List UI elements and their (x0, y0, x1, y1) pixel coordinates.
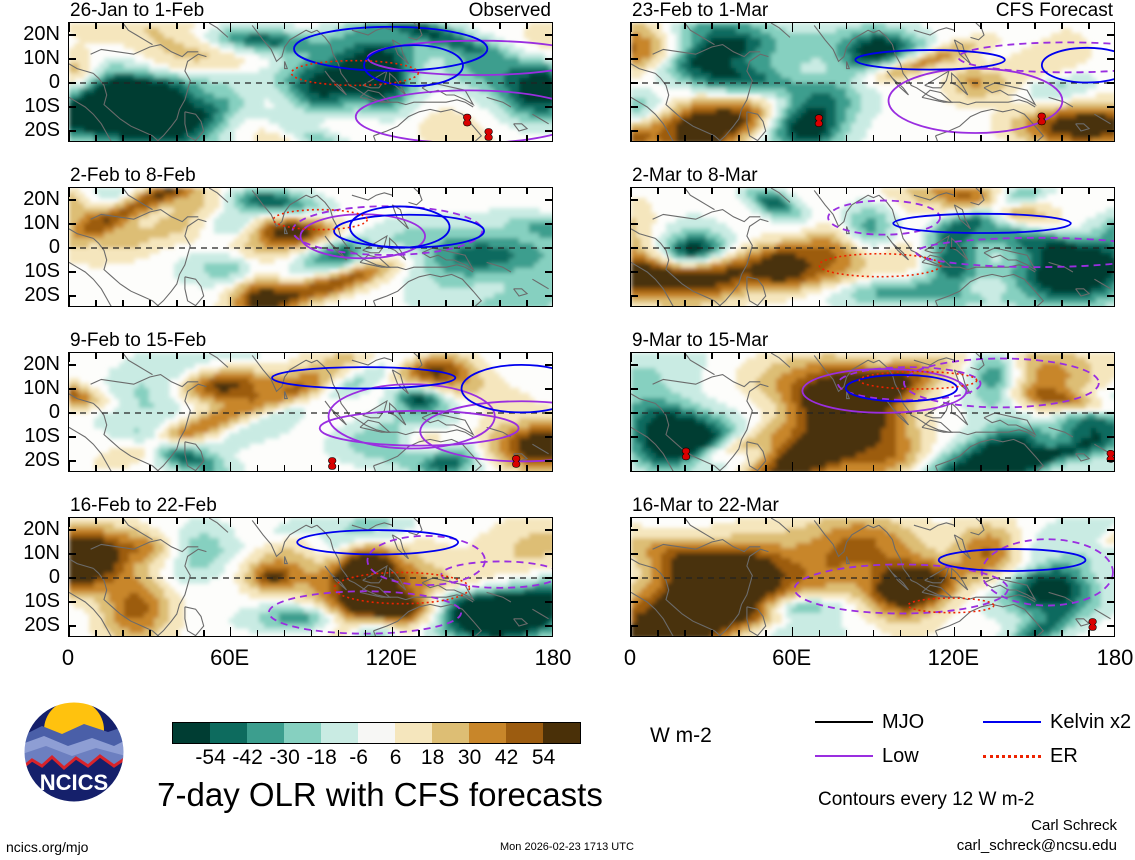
colorbar-tick-label: -6 (349, 747, 368, 768)
x-axis-tick (122, 630, 124, 636)
x-axis-tick (765, 300, 767, 306)
y-axis-tick (545, 295, 552, 297)
contour-interval-note: Contours every 12 W m-2 (818, 790, 1034, 809)
x-axis-tick (846, 135, 848, 141)
x-axis-tick (230, 132, 232, 141)
x-axis-labels: 060E120E180 (630, 637, 1115, 671)
x-axis-tick (311, 300, 313, 306)
x-axis-tick (792, 518, 794, 527)
y-axis-label: 10N (23, 543, 60, 563)
y-axis-tick (545, 553, 552, 555)
y-axis-tick (631, 34, 638, 36)
y-axis-labels: 20N10N010S20S (2, 187, 68, 307)
y-axis-tick (545, 364, 552, 366)
x-axis-tick (1034, 518, 1036, 524)
x-axis-tick (900, 135, 902, 141)
x-axis-tick (472, 23, 474, 29)
y-axis-tick (1107, 601, 1114, 603)
x-axis-tick (954, 297, 956, 306)
y-axis-tick (69, 529, 76, 531)
y-axis-tick (69, 412, 76, 414)
map-plot-area (68, 22, 553, 142)
x-axis-tick (499, 300, 501, 306)
x-axis-tick (819, 188, 821, 194)
x-axis-tick (954, 462, 956, 471)
y-axis-tick (545, 199, 552, 201)
y-axis-tick (1107, 130, 1114, 132)
colorbar-tick-label: -54 (195, 747, 225, 768)
y-axis-label: 10N (23, 378, 60, 398)
panel-title: 16-Mar to 22-Mar (632, 496, 779, 515)
x-axis-tick (95, 135, 97, 141)
x-axis-tick (445, 630, 447, 636)
x-axis-label: 180 (535, 647, 572, 669)
x-axis-tick (284, 23, 286, 29)
legend-entry-kelvin-x2: Kelvin x2 (983, 712, 1131, 732)
x-axis-tick (526, 188, 528, 194)
x-axis-tick (927, 353, 929, 359)
y-axis-label: 0 (49, 72, 60, 92)
y-axis-tick (1107, 625, 1114, 627)
x-axis-tick (418, 23, 420, 29)
x-axis-tick (257, 135, 259, 141)
x-axis-tick (392, 188, 394, 197)
x-axis-tick (499, 465, 501, 471)
y-axis-label: 10S (24, 591, 60, 611)
y-axis-tick (545, 412, 552, 414)
x-axis-tick (792, 188, 794, 197)
x-axis-tick (68, 132, 70, 141)
x-axis-tick (499, 630, 501, 636)
panel-corner-label: CFS Forecast (996, 1, 1113, 20)
y-axis-tick (1107, 199, 1114, 201)
x-axis-tick (122, 188, 124, 194)
x-axis-tick (980, 300, 982, 306)
x-axis-tick (657, 630, 659, 636)
x-axis-tick (311, 23, 313, 29)
y-axis-tick (545, 460, 552, 462)
x-axis-tick (846, 188, 848, 194)
x-axis-tick (711, 135, 713, 141)
x-axis-tick (846, 630, 848, 636)
x-axis-tick (819, 630, 821, 636)
x-axis-tick (284, 135, 286, 141)
y-axis-tick (1107, 388, 1114, 390)
x-axis-tick (472, 188, 474, 194)
x-axis-tick (1007, 188, 1009, 194)
x-axis-label: 120E (366, 647, 417, 669)
x-axis-tick (122, 465, 124, 471)
olr-shading (69, 188, 553, 307)
olr-shading (631, 188, 1115, 307)
x-axis-tick (365, 630, 367, 636)
legend-label: MJO (882, 712, 924, 732)
x-axis-tick (1088, 188, 1090, 194)
colorbar-band-8 (469, 723, 506, 743)
x-axis-tick (819, 300, 821, 306)
x-axis-tick (418, 188, 420, 194)
x-axis-tick (365, 135, 367, 141)
colorbar-band-4 (321, 723, 358, 743)
x-axis-tick (392, 23, 394, 32)
x-axis-tick (765, 23, 767, 29)
y-axis-tick (631, 247, 638, 249)
x-axis-tick (203, 300, 205, 306)
timestamp: Mon 2026-02-23 1713 UTC (500, 842, 634, 853)
x-axis-tick (392, 627, 394, 636)
x-axis-tick (846, 23, 848, 29)
y-axis-tick (69, 34, 76, 36)
y-axis-label: 0 (49, 237, 60, 257)
y-axis-tick (545, 130, 552, 132)
y-axis-tick (545, 223, 552, 225)
x-axis-tick (900, 630, 902, 636)
x-axis-tick (526, 630, 528, 636)
x-axis-tick (657, 465, 659, 471)
x-axis-tick (765, 518, 767, 524)
y-axis-tick (69, 460, 76, 462)
x-axis-tick (68, 627, 70, 636)
x-axis-label: 60E (210, 647, 249, 669)
x-axis-tick (684, 188, 686, 194)
x-axis-tick (1061, 630, 1063, 636)
map-plot-area (630, 22, 1115, 142)
y-axis-tick (545, 601, 552, 603)
x-axis-tick (900, 300, 902, 306)
y-axis-tick (545, 247, 552, 249)
olr-shading (631, 518, 1115, 637)
legend-swatch (983, 755, 1041, 758)
x-axis-tick (284, 188, 286, 194)
x-axis-tick (311, 630, 313, 636)
x-axis-tick (792, 627, 794, 636)
x-axis-tick (257, 23, 259, 29)
x-axis-tick (203, 23, 205, 29)
x-axis-tick (819, 518, 821, 524)
x-axis-tick (257, 465, 259, 471)
x-axis-tick (1088, 353, 1090, 359)
y-axis-tick (1107, 295, 1114, 297)
colorbar: -54-42-30-18-6618304254 W m-2 (172, 722, 581, 770)
x-axis-tick (684, 518, 686, 524)
x-axis-tick (980, 518, 982, 524)
x-axis-tick (176, 300, 178, 306)
map-plot-area (68, 352, 553, 472)
x-axis-tick (230, 518, 232, 527)
x-axis-tick (68, 188, 70, 197)
x-axis-tick (980, 465, 982, 471)
x-axis-tick (684, 630, 686, 636)
y-axis-label: 10S (24, 96, 60, 116)
x-axis-tick (738, 353, 740, 359)
x-axis-tick (1007, 300, 1009, 306)
map-plot-area (630, 187, 1115, 307)
colorbar-tick-label: -18 (306, 747, 336, 768)
y-axis-tick (545, 529, 552, 531)
y-axis-tick (545, 625, 552, 627)
x-axis-tick (338, 135, 340, 141)
colorbar-band-0 (173, 723, 210, 743)
colorbar-tick-label: -30 (269, 747, 299, 768)
x-axis-tick (365, 23, 367, 29)
y-axis-tick (69, 82, 76, 84)
x-axis-tick (472, 135, 474, 141)
y-axis-label: 10N (23, 213, 60, 233)
x-axis-tick (738, 518, 740, 524)
x-axis-tick (1061, 518, 1063, 524)
x-axis-tick (230, 462, 232, 471)
y-axis-tick (631, 364, 638, 366)
x-axis-tick (392, 353, 394, 362)
x-axis-tick (257, 353, 259, 359)
x-axis-tick (765, 135, 767, 141)
y-axis-tick (545, 271, 552, 273)
x-axis-tick (499, 135, 501, 141)
x-axis-tick (445, 23, 447, 29)
x-axis-tick (954, 23, 956, 32)
legend-swatch (983, 721, 1041, 723)
y-axis-tick (545, 82, 552, 84)
y-axis-label: 10S (24, 261, 60, 281)
y-axis-tick (631, 130, 638, 132)
x-axis-tick (980, 353, 982, 359)
x-axis-tick (526, 465, 528, 471)
x-axis-tick (284, 518, 286, 524)
y-axis-tick (69, 106, 76, 108)
x-axis-tick (311, 188, 313, 194)
x-axis-tick (392, 462, 394, 471)
x-axis-tick (365, 465, 367, 471)
x-axis-tick (819, 353, 821, 359)
x-axis-tick (927, 23, 929, 29)
x-axis-tick (122, 353, 124, 359)
x-axis-tick (472, 300, 474, 306)
y-axis-tick (631, 436, 638, 438)
y-axis-label: 10N (23, 48, 60, 68)
x-axis-tick (954, 518, 956, 527)
x-axis-tick (1088, 465, 1090, 471)
x-axis-tick (203, 353, 205, 359)
y-axis-tick (1107, 82, 1114, 84)
colorbar-tick-label: -42 (232, 747, 262, 768)
y-axis-tick (631, 460, 638, 462)
x-axis-tick (873, 465, 875, 471)
x-axis-tick (499, 23, 501, 29)
y-axis-label: 20S (24, 615, 60, 635)
x-axis-tick (445, 135, 447, 141)
y-axis-tick (1107, 364, 1114, 366)
x-axis-tick (392, 297, 394, 306)
x-axis-tick (365, 353, 367, 359)
site-url: ncics.org/mjo (6, 840, 88, 854)
x-axis-tick (68, 518, 70, 527)
x-axis-tick (900, 23, 902, 29)
x-axis-tick (149, 353, 151, 359)
x-axis-tick (1034, 135, 1036, 141)
x-axis-tick (1088, 518, 1090, 524)
credit-author: Carl Schreck (1031, 818, 1117, 833)
y-axis-tick (69, 364, 76, 366)
x-axis-tick (792, 297, 794, 306)
x-axis-tick (684, 135, 686, 141)
x-axis-tick (792, 132, 794, 141)
panel-title: 9-Mar to 15-Mar (632, 331, 768, 350)
x-axis-tick (765, 188, 767, 194)
x-axis-tick (418, 135, 420, 141)
x-axis-tick (738, 23, 740, 29)
x-axis-tick (900, 353, 902, 359)
x-axis-tick (365, 518, 367, 524)
panel-title: 26-Jan to 1-Feb (70, 1, 204, 20)
x-axis-tick (900, 188, 902, 194)
x-axis-tick (338, 188, 340, 194)
colorbar-band-5 (358, 723, 395, 743)
map-panel-obs-1: 26-Jan to 1-FebObserved20N10N010S20S (68, 22, 553, 142)
x-axis-tick (176, 23, 178, 29)
colorbar-band-7 (432, 723, 469, 743)
y-axis-tick (69, 130, 76, 132)
x-axis-tick (1088, 135, 1090, 141)
y-axis-label: 20S (24, 120, 60, 140)
y-axis-tick (1107, 34, 1114, 36)
y-axis-tick (545, 436, 552, 438)
y-axis-tick (69, 577, 76, 579)
y-axis-labels: 20N10N010S20S (2, 517, 68, 637)
x-axis-tick (765, 353, 767, 359)
x-axis-tick (765, 465, 767, 471)
y-axis-tick (631, 271, 638, 273)
x-axis-tick (873, 188, 875, 194)
x-axis-tick (338, 23, 340, 29)
x-axis-tick (980, 630, 982, 636)
legend-swatch (815, 755, 873, 757)
x-axis-tick (1061, 188, 1063, 194)
y-axis-tick (631, 577, 638, 579)
colorbar-tick-label: 54 (532, 747, 555, 768)
olr-figure: 26-Jan to 1-FebObserved20N10N010S20S23-F… (0, 0, 1135, 860)
x-axis-tick (1061, 23, 1063, 29)
x-axis-tick (176, 518, 178, 524)
y-axis-tick (69, 58, 76, 60)
x-axis-label: 0 (62, 647, 74, 669)
x-axis-tick (176, 135, 178, 141)
x-axis-tick (68, 353, 70, 362)
x-axis-labels: 060E120E180 (68, 637, 553, 671)
y-axis-tick (1107, 460, 1114, 462)
x-axis-tick (95, 353, 97, 359)
x-axis-tick (927, 300, 929, 306)
x-axis-tick (230, 188, 232, 197)
x-axis-tick (149, 23, 151, 29)
legend-label: Kelvin x2 (1050, 712, 1131, 732)
x-axis-tick (927, 135, 929, 141)
x-axis-tick (284, 465, 286, 471)
x-axis-tick (630, 297, 632, 306)
y-axis-tick (69, 601, 76, 603)
colorbar-tick-label: 6 (390, 747, 402, 768)
x-axis-tick (526, 135, 528, 141)
x-axis-tick (1007, 518, 1009, 524)
x-axis-tick (68, 462, 70, 471)
x-axis-tick (472, 518, 474, 524)
y-axis-tick (545, 34, 552, 36)
legend-entry-mjo: MJO (815, 712, 924, 732)
x-axis-tick (257, 630, 259, 636)
x-axis-tick (445, 300, 447, 306)
legend-entry-er: ER (983, 746, 1078, 766)
x-axis-tick (95, 23, 97, 29)
x-axis-tick (711, 23, 713, 29)
x-axis-tick (630, 188, 632, 197)
olr-shading (69, 518, 553, 637)
panel-title: 16-Feb to 22-Feb (70, 496, 217, 515)
panel-title: 2-Mar to 8-Mar (632, 166, 758, 185)
y-axis-tick (1107, 271, 1114, 273)
x-axis-tick (149, 518, 151, 524)
y-axis-label: 0 (49, 402, 60, 422)
x-axis-tick (122, 518, 124, 524)
x-axis-tick (392, 132, 394, 141)
x-axis-tick (630, 627, 632, 636)
x-axis-tick (873, 518, 875, 524)
x-axis-tick (711, 630, 713, 636)
x-axis-tick (176, 630, 178, 636)
panel-title: 23-Feb to 1-Mar (632, 1, 768, 20)
x-axis-tick (1034, 23, 1036, 29)
x-axis-tick (1034, 465, 1036, 471)
panel-title: 2-Feb to 8-Feb (70, 166, 196, 185)
x-axis-tick (738, 135, 740, 141)
x-axis-tick (1007, 465, 1009, 471)
x-axis-tick (980, 23, 982, 29)
x-axis-tick (230, 23, 232, 32)
x-axis-tick (203, 465, 205, 471)
olr-shading (69, 23, 553, 142)
x-axis-tick (257, 518, 259, 524)
y-axis-tick (1107, 553, 1114, 555)
x-axis-tick (657, 300, 659, 306)
y-axis-tick (69, 625, 76, 627)
x-axis-tick (927, 518, 929, 524)
x-axis-tick (257, 188, 259, 194)
x-axis-tick (472, 465, 474, 471)
x-axis-tick (284, 353, 286, 359)
x-axis-tick (657, 23, 659, 29)
x-axis-tick (176, 188, 178, 194)
x-axis-tick (311, 465, 313, 471)
x-axis-tick (311, 353, 313, 359)
x-axis-tick (445, 353, 447, 359)
x-axis-tick (954, 627, 956, 636)
y-axis-tick (69, 553, 76, 555)
x-axis-tick (738, 300, 740, 306)
colorbar-bands (172, 722, 581, 744)
x-axis-tick (95, 518, 97, 524)
x-axis-tick (711, 518, 713, 524)
x-axis-tick (122, 23, 124, 29)
x-axis-tick (526, 23, 528, 29)
x-axis-tick (392, 518, 394, 527)
y-axis-label: 0 (49, 567, 60, 587)
olr-shading (631, 23, 1115, 142)
x-axis-tick (738, 465, 740, 471)
x-axis-tick (122, 135, 124, 141)
x-axis-tick (311, 135, 313, 141)
x-axis-tick (765, 630, 767, 636)
x-axis-label: 180 (1097, 647, 1134, 669)
map-plot-area (68, 187, 553, 307)
y-axis-tick (631, 553, 638, 555)
